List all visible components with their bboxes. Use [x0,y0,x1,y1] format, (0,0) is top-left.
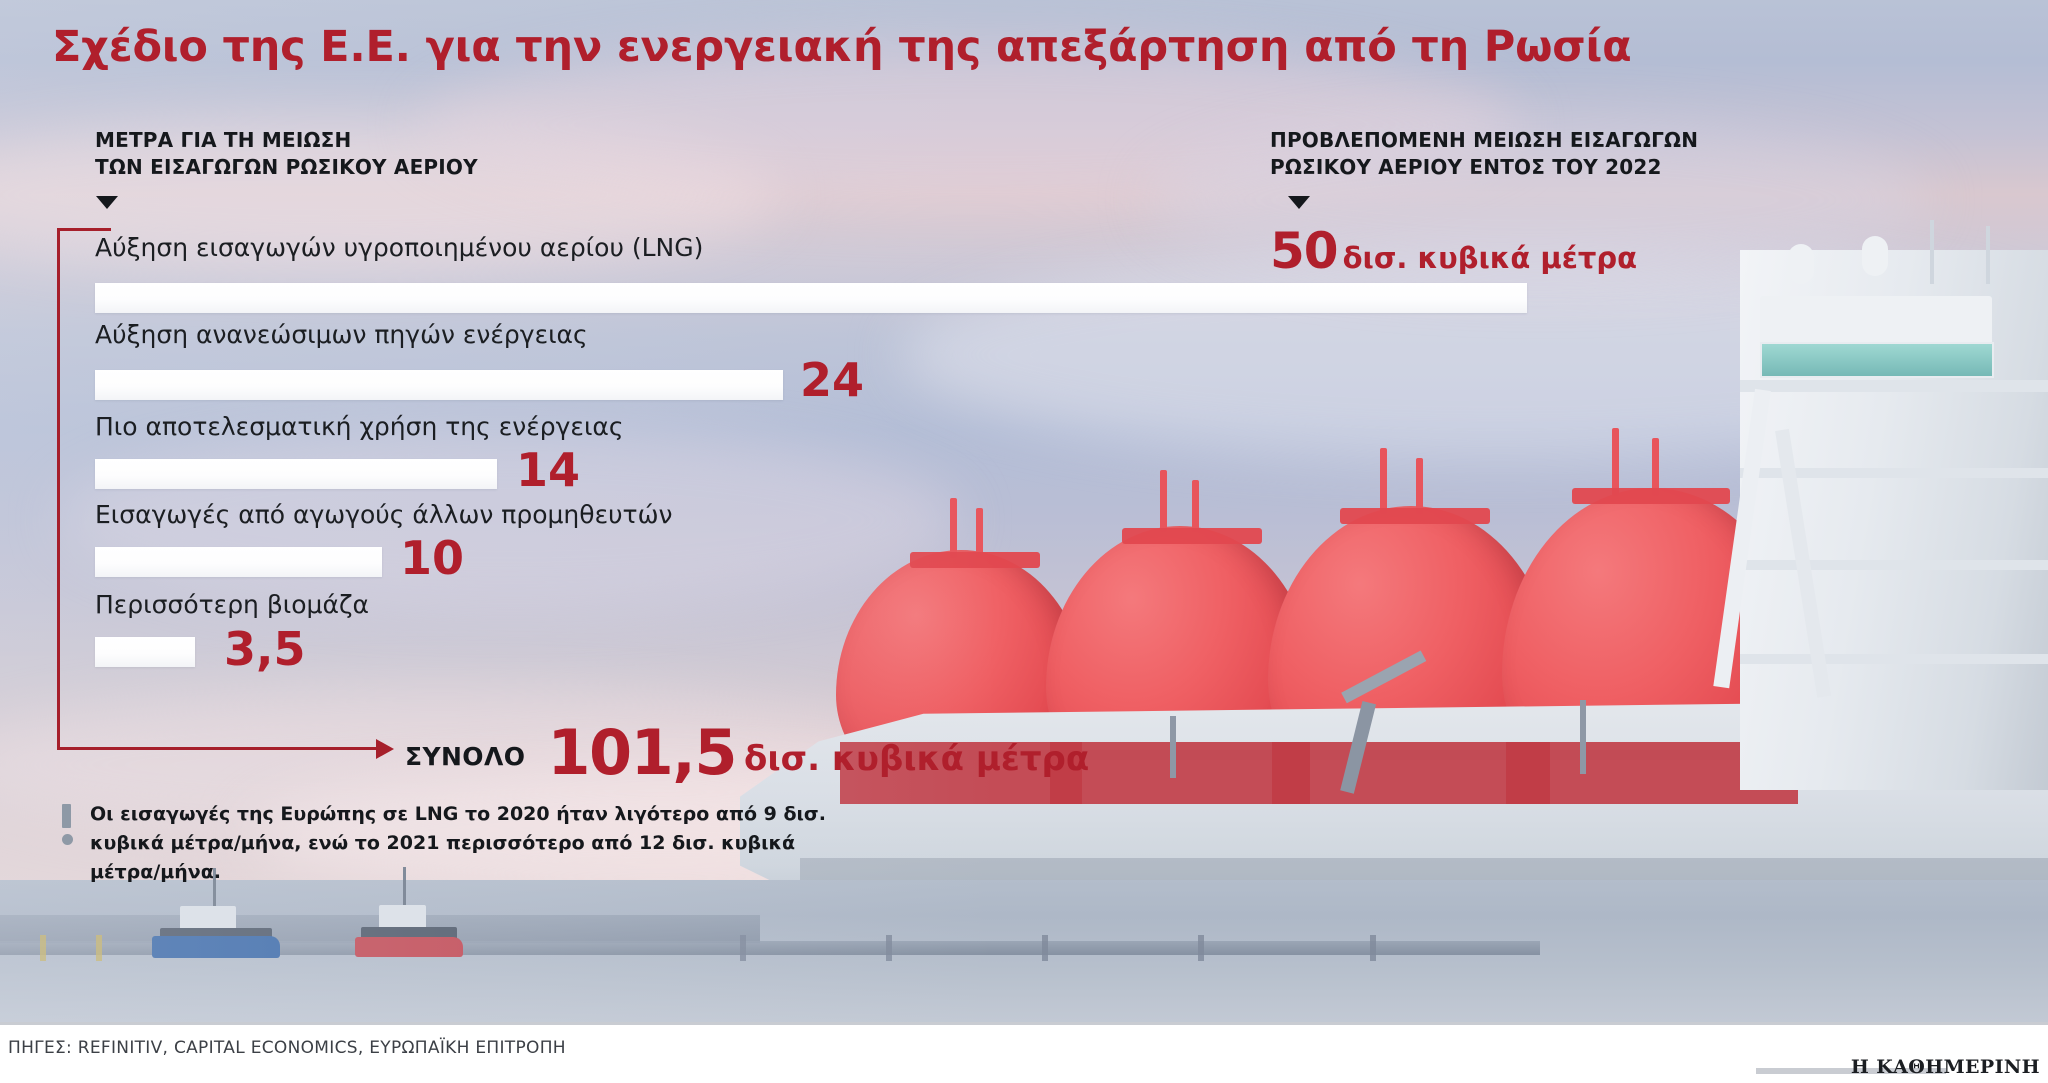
row-label: Πιο αποτελεσματική χρήση της ενέργειας [95,412,624,441]
right-column-header: ΠΡΟΒΛΕΠΟΜΕΝΗ ΜΕΙΩΣΗ ΕΙΣΑΓΩΓΩΝ ΡΩΣΙΚΟΥ ΑΕ… [1270,127,1698,181]
bracket-top-tick [57,228,111,231]
bar-value: 3,5 [224,626,306,672]
caret-down-icon [96,196,118,209]
infographic-root: Σχέδιο της Ε.Ε. για την ενεργειακή της α… [0,0,2048,1083]
left-column-header-line1: ΜΕΤΡΑ ΓΙΑ ΤΗ ΜΕΙΩΣΗ [95,127,478,154]
row-label: Εισαγωγές από αγωγούς άλλων προμηθευτών [95,500,673,529]
bracket-bottom-arm [57,747,379,750]
bar-value: 10 [400,535,464,581]
bracket-arrow-icon [376,739,394,759]
brand-logo: Η ΚΑΘΗΜΕΡΙΝΗ [1851,1056,2040,1078]
total-label: ΣΥΝΟΛΟ [405,742,525,771]
exclamation-icon [62,804,71,828]
row-label: Αύξηση ανανεώσιμων πηγών ενέργειας [95,320,588,349]
left-column-header: ΜΕΤΡΑ ΓΙΑ ΤΗ ΜΕΙΩΣΗ ΤΩΝ ΕΙΣΑΓΩΓΩΝ ΡΩΣΙΚΟ… [95,127,478,181]
bar [95,547,382,577]
projected-reduction-unit: δισ. κυβικά μέτρα [1343,241,1637,275]
footnote-text: Οι εισαγωγές της Ευρώπης σε LNG το 2020 … [90,800,862,887]
total-row: ΣΥΝΟΛΟ101,5δισ. κυβικά μέτρα [405,716,1089,789]
projected-reduction-number: 50 [1270,222,1338,280]
bar-value: 14 [516,447,580,493]
sources-line: ΠΗΓΕΣ: REFINITIV, CAPITAL ECONOMICS, ΕΥΡ… [8,1038,566,1058]
bar [95,283,1527,313]
right-column-header-line2: ΡΩΣΙΚΟΥ ΑΕΡΙΟΥ ΕΝΤΟΣ ΤΟΥ 2022 [1270,154,1698,181]
row-label: Περισσότερη βιομάζα [95,590,369,619]
caret-down-icon [1288,196,1310,209]
footnote: Οι εισαγωγές της Ευρώπης σε LNG το 2020 … [62,800,862,887]
projected-reduction-value: 50δισ. κυβικά μέτρα [1270,222,1637,280]
footer-divider [0,1022,2048,1025]
bar [95,637,195,667]
total-unit: δισ. κυβικά μέτρα [744,739,1089,779]
bracket-line [57,228,60,750]
bar-value: 24 [800,357,864,403]
bar [95,459,497,489]
right-column-header-line1: ΠΡΟΒΛΕΠΟΜΕΝΗ ΜΕΙΩΣΗ ΕΙΣΑΓΩΓΩΝ [1270,127,1698,154]
total-number: 101,5 [547,716,736,789]
row-label: Αύξηση εισαγωγών υγροποιημένου αερίου (L… [95,233,703,262]
page-title: Σχέδιο της Ε.Ε. για την ενεργειακή της α… [52,22,1631,72]
content-layer: Σχέδιο της Ε.Ε. για την ενεργειακή της α… [0,0,2048,1083]
bar [95,370,783,400]
left-column-header-line2: ΤΩΝ ΕΙΣΑΓΩΓΩΝ ΡΩΣΙΚΟΥ ΑΕΡΙΟΥ [95,154,478,181]
exclamation-icon-dot [62,834,73,845]
